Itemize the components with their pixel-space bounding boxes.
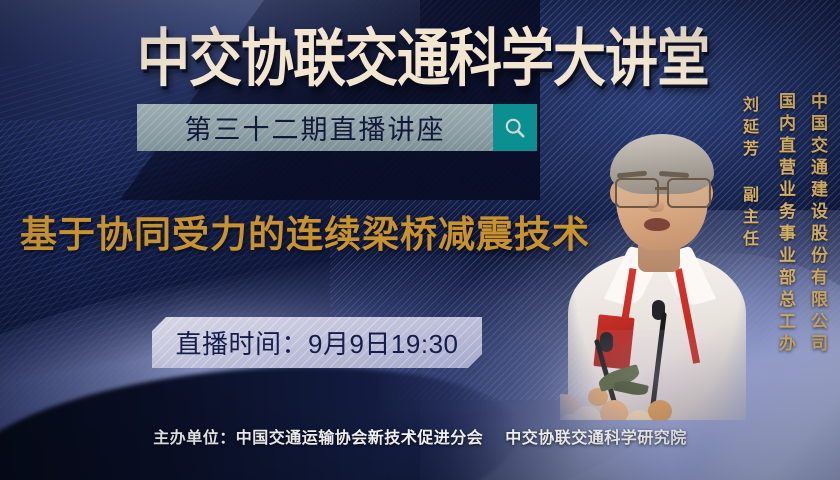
speaker-department: 国内直营业务事业部总工办	[773, 92, 798, 356]
broadcast-time-box: 直播时间：9月9日19:30	[152, 317, 482, 368]
broadcast-time-text: 直播时间：9月9日19:30	[176, 324, 459, 361]
subtitle-label: 第三十二期直播讲座	[185, 108, 446, 147]
speaker-glasses	[612, 178, 712, 204]
speaker-company: 中国交通建设股份有限公司	[805, 92, 830, 356]
glasses-bridge	[655, 187, 669, 190]
speaker-nose	[648, 200, 664, 212]
search-icon-tile[interactable]	[493, 104, 537, 151]
live-lecture-promo-banner: 中交协联交通科学大讲堂 第三十二期直播讲座 基于协同受力的连续梁桥减震技术 直播…	[0, 0, 840, 480]
speaker-role: 副主任	[736, 186, 760, 252]
coorganizer-label: 中交协联交通科学研究院	[505, 424, 687, 448]
search-icon	[503, 116, 527, 140]
glasses-lens-right	[667, 178, 711, 208]
podium-flower-arrangement	[560, 366, 712, 420]
speaker-name: 刘延芳	[736, 96, 760, 162]
flower-leaf	[613, 379, 649, 398]
flower-blossom	[648, 400, 672, 420]
subtitle-band: 第三十二期直播讲座	[137, 104, 493, 151]
microphone-head-secondary	[600, 332, 613, 352]
subtitle-bar: 第三十二期直播讲座	[137, 104, 537, 151]
organizer-label: 主办单位：中国交通运输协会新技术促进分会	[153, 424, 483, 448]
footer-organizers: 主办单位：中国交通运输协会新技术促进分会 中交协联交通科学研究院	[0, 424, 840, 448]
page-title: 中交协联交通科学大讲堂	[133, 13, 713, 96]
lecture-topic-headline: 基于协同受力的连续梁桥减震技术	[0, 205, 610, 257]
speaker-photo	[560, 120, 755, 420]
speaker-mouth	[644, 218, 670, 231]
